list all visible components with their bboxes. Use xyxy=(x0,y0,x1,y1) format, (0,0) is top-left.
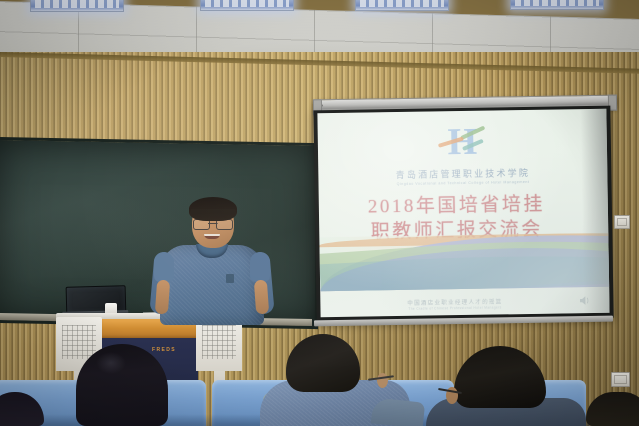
presenter-forearm-right xyxy=(254,280,269,315)
presenter-hair xyxy=(189,197,237,221)
audience-member-center xyxy=(268,336,398,426)
presenter-shirt-pocket xyxy=(226,274,234,283)
podium-side-speaker-right xyxy=(196,317,242,371)
audience-head xyxy=(454,346,546,408)
audience-arm xyxy=(371,397,425,426)
projection-screen: H 青岛酒店管理职业技术学院 Qingdao Vocational and Te… xyxy=(313,106,613,323)
presenter-sleeve-left xyxy=(154,252,174,282)
audience-member-far-right xyxy=(586,392,639,426)
audience-head xyxy=(586,392,639,426)
presentation-slide: H 青岛酒店管理职业技术学院 Qingdao Vocational and Te… xyxy=(317,109,609,318)
hair-highlight xyxy=(96,352,126,374)
ceiling-light-panel xyxy=(30,0,124,12)
wall-switch-plate[interactable] xyxy=(614,215,630,229)
audience-member-left xyxy=(76,344,168,426)
audience-hair xyxy=(0,392,44,426)
photo-scene: ▲ H 青岛酒店管理职业技术学院 Qingdao Vocational and … xyxy=(0,0,639,426)
screen-shadow-right xyxy=(580,109,609,313)
ceiling-light-panel xyxy=(355,0,449,11)
podium-speaker-grill xyxy=(202,325,236,359)
presenter xyxy=(160,200,264,325)
presenter-forearm-left xyxy=(155,280,170,315)
presenter-sleeve-right xyxy=(250,252,270,282)
audience-member xyxy=(0,392,44,426)
ceiling-light-panel xyxy=(200,0,294,11)
audience-head xyxy=(286,334,360,392)
college-logo-icon: H xyxy=(431,123,494,162)
slide-wave-graphic xyxy=(319,233,609,292)
ceiling-light-panel xyxy=(510,0,604,10)
presenter-smile xyxy=(204,234,220,239)
slide-logo-block: H 青岛酒店管理职业技术学院 Qingdao Vocational and Te… xyxy=(318,121,608,188)
audience-member-right xyxy=(432,348,578,426)
slide-footer: 中国酒店业职业经理人才的摇篮 The Cradle of Chinese Pro… xyxy=(320,296,589,312)
